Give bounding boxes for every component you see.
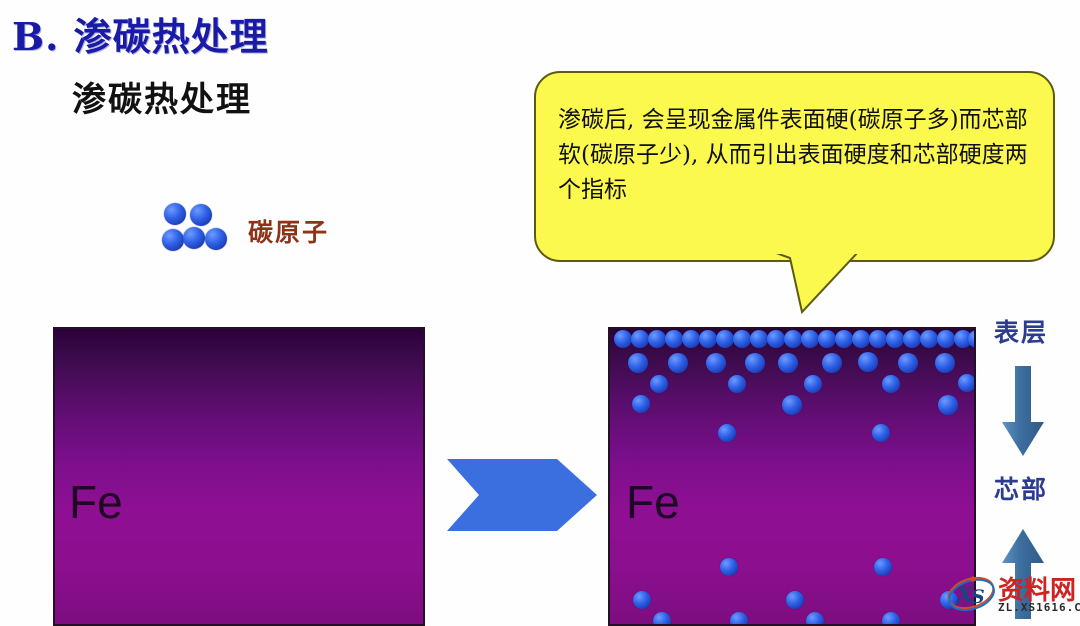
- carbon-atom: [653, 612, 671, 624]
- carbon-atom: [733, 330, 751, 348]
- carbon-atom: [205, 228, 227, 250]
- metal-block-after: Fe: [608, 327, 976, 626]
- material-label-after: Fe: [626, 475, 680, 529]
- carbon-atom: [882, 612, 900, 624]
- carbon-atom: [835, 330, 853, 348]
- carbon-atom: [665, 330, 683, 348]
- carbon-atom: [633, 591, 651, 609]
- carbon-atom: [920, 330, 938, 348]
- carbon-atom-legend-cluster: [162, 203, 236, 255]
- carbon-atom: [782, 395, 802, 415]
- carbon-atom: [699, 330, 717, 348]
- carbon-atom: [786, 591, 804, 609]
- carbon-atom: [190, 204, 212, 226]
- carbon-atom: [958, 374, 974, 392]
- carbon-atom: [767, 330, 785, 348]
- carbon-atom: [804, 375, 822, 393]
- callout-text: 渗碳后, 会呈现金属件表面硬(碳原子多)而芯部软(碳原子少), 从而引出表面硬度…: [558, 103, 1036, 208]
- watermark: X S 资料网 ZL.XS1616.COM: [946, 570, 1080, 620]
- carbon-atom: [822, 353, 842, 373]
- carbon-atom: [706, 353, 726, 373]
- carbon-atom: [682, 330, 700, 348]
- xs-logo-icon: X S: [946, 572, 996, 612]
- carbon-atom: [716, 330, 734, 348]
- carbon-atom: [852, 330, 870, 348]
- callout-tail: [760, 250, 900, 320]
- carbon-atom: [728, 375, 746, 393]
- carbon-atom: [784, 330, 802, 348]
- page-subtitle: 渗碳热处理: [72, 72, 252, 121]
- carbon-atom: [668, 353, 688, 373]
- carbon-atom: [801, 330, 819, 348]
- svg-text:S: S: [971, 586, 985, 608]
- carbon-atom-label: 碳原子: [248, 213, 329, 249]
- carbon-atom: [632, 395, 650, 413]
- carbon-atom: [874, 558, 892, 576]
- carbon-atom: [628, 353, 648, 373]
- carbon-atom: [858, 352, 878, 372]
- watermark-site-url: ZL.XS1616.COM: [998, 601, 1080, 614]
- carbon-atom: [806, 612, 824, 624]
- carbon-atom: [750, 330, 768, 348]
- carbon-atom: [872, 424, 890, 442]
- carbon-atom: [898, 353, 918, 373]
- carbon-atom: [718, 424, 736, 442]
- carbon-atom: [730, 612, 748, 624]
- process-arrow-icon: [447, 455, 597, 535]
- carbon-atom: [937, 330, 955, 348]
- carbon-atom: [818, 330, 836, 348]
- carbon-atom: [631, 330, 649, 348]
- carbon-atom: [720, 558, 738, 576]
- page-title: B. 渗碳热处理: [12, 6, 269, 61]
- slide-canvas: B. 渗碳热处理 渗碳热处理 碳原子 渗碳后, 会呈现金属件表面硬(碳原子多)而…: [0, 0, 1080, 626]
- core-layer-label: 芯部: [994, 470, 1048, 506]
- carbon-atom: [938, 395, 958, 415]
- carbon-atom: [935, 353, 955, 373]
- carbon-atom: [778, 353, 798, 373]
- carbon-atom: [650, 375, 668, 393]
- carbon-atom: [162, 229, 184, 251]
- surface-layer-label: 表层: [994, 313, 1048, 349]
- carbon-atom: [882, 375, 900, 393]
- carbon-atom: [745, 353, 765, 373]
- carbon-atom: [183, 227, 205, 249]
- carbon-atom: [869, 330, 887, 348]
- carbon-atom: [648, 330, 666, 348]
- carbon-atom: [614, 330, 632, 348]
- metal-block-before: Fe: [53, 327, 425, 626]
- arrow-down-icon: [1000, 366, 1046, 458]
- carbon-atom: [903, 330, 921, 348]
- carbon-atom: [886, 330, 904, 348]
- carbon-atom: [164, 203, 186, 225]
- callout-bubble: 渗碳后, 会呈现金属件表面硬(碳原子多)而芯部软(碳原子少), 从而引出表面硬度…: [534, 71, 1055, 262]
- material-label-before: Fe: [69, 475, 123, 529]
